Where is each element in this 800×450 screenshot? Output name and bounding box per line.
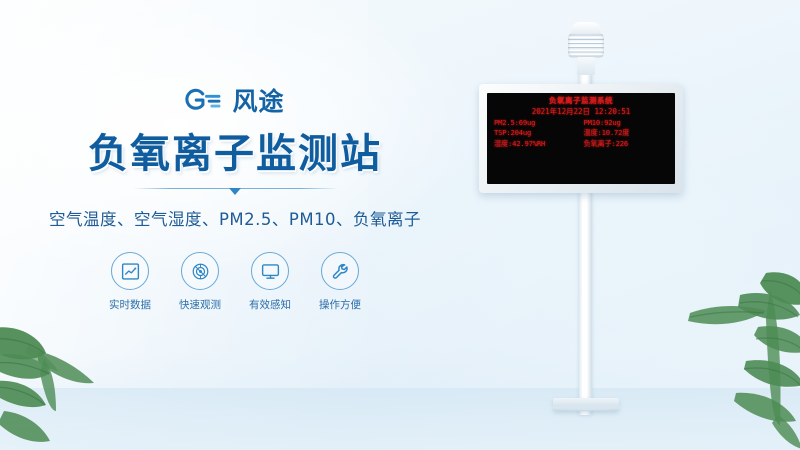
led-display-datetime: 2021年12月22日 12:20:51 (493, 108, 669, 116)
led-readings-grid: PM2.5:69ug PM10:92ug TSP:204ug 温度:10.72度… (493, 119, 669, 148)
led-display-title: 负氧离子监测系统 (493, 97, 669, 105)
line-chart-icon (120, 261, 141, 282)
feature-label: 快速观测 (179, 297, 221, 312)
feature-icon-circle (251, 252, 289, 290)
feature-list: 实时数据 快速观测 (104, 252, 366, 312)
wrench-icon (330, 261, 351, 282)
monitor-icon (260, 261, 281, 282)
feature-item-realtime-data[interactable]: 实时数据 (104, 252, 156, 312)
triangle-down-divider-icon (229, 188, 241, 195)
sensor-foot (577, 57, 595, 75)
feature-label: 操作方便 (319, 297, 361, 312)
led-reading-tsp: TSP:204ug (494, 129, 580, 136)
radar-scan-icon (190, 261, 211, 282)
led-display-panel[interactable]: 负氧离子监测系统 2021年12月22日 12:20:51 PM2.5:69ug… (487, 93, 675, 184)
page-subtitle: 空气温度、空气湿度、PM2.5、PM10、负氧离子 (49, 206, 421, 230)
led-reading-negative-oxygen-ion: 负氧离子:226 (584, 140, 670, 147)
feature-icon-circle (321, 252, 359, 290)
fengtu-wind-logo-icon (185, 88, 225, 114)
pole-base-flange-icon (553, 398, 619, 411)
feature-icon-circle (181, 252, 219, 290)
feature-item-easy-operation[interactable]: 操作方便 (314, 252, 366, 312)
led-reading-pm10: PM10:92ug (584, 119, 670, 126)
led-reading-pm25: PM2.5:69ug (494, 119, 580, 126)
page-title: 负氧离子监测站 (88, 132, 382, 176)
title-divider (133, 186, 338, 196)
brand-name: 风途 (232, 89, 284, 114)
led-display-frame: 负氧离子监测系统 2021年12月22日 12:20:51 PM2.5:69ug… (479, 84, 683, 193)
led-reading-temperature: 温度:10.72度 (584, 129, 670, 136)
feature-label: 实时数据 (109, 297, 151, 312)
feature-item-fast-observation[interactable]: 快速观测 (174, 252, 226, 312)
feature-item-effective-sensing[interactable]: 有效感知 (244, 252, 296, 312)
feature-label: 有效感知 (249, 297, 291, 312)
sensor-louvers (568, 33, 604, 58)
leaf-plant-icon (0, 315, 144, 450)
radiation-shield-sensor-icon (562, 22, 610, 74)
brand-logo: 风途 (185, 86, 284, 116)
leaf-plant-icon (674, 265, 800, 450)
feature-icon-circle (111, 252, 149, 290)
led-reading-humidity: 湿度:42.97%RH (494, 140, 580, 147)
